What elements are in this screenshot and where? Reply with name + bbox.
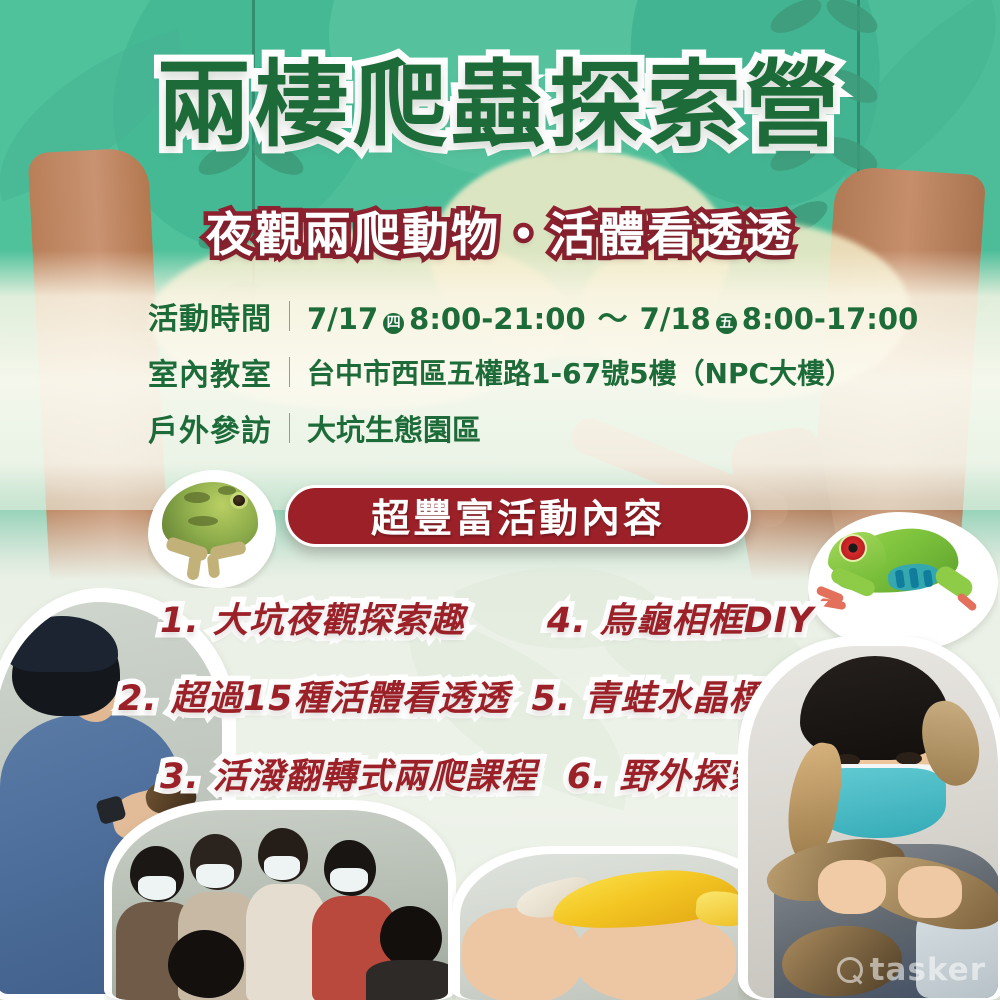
date-start: 7/17 bbox=[307, 302, 378, 336]
activity-item-3: 3. 活潑翻轉式兩爬課程 bbox=[160, 748, 537, 799]
event-info-block: 活動時間 7/17四8:00-21:00～7/18五8:00-17:00 室內教… bbox=[0, 288, 1000, 456]
poster-canvas: 兩棲爬蟲探索營 夜觀兩爬動物・活體看透透 活動時間 7/17四8:00-21:0… bbox=[0, 0, 1000, 1000]
boy-hand bbox=[818, 860, 886, 914]
activity-item-1: 1. 大坑夜觀探索趣 bbox=[160, 592, 465, 643]
date-end: 7/18 bbox=[640, 302, 711, 336]
divider bbox=[289, 301, 290, 331]
divider bbox=[289, 413, 290, 443]
range-symbol: ～ bbox=[598, 302, 628, 337]
watermark: tasker bbox=[837, 952, 986, 988]
page-subtitle: 夜觀兩爬動物・活體看透透 bbox=[0, 196, 1000, 265]
time-end: 8:00-17:00 bbox=[742, 302, 918, 336]
olive-frog-cutout bbox=[148, 470, 276, 588]
time-start: 8:00-21:00 bbox=[409, 302, 585, 336]
info-row-datetime: 活動時間 7/17四8:00-21:00～7/18五8:00-17:00 bbox=[0, 288, 1000, 344]
frog-eye bbox=[230, 492, 248, 509]
leopard-gecko-photo bbox=[452, 846, 782, 1000]
divider bbox=[289, 357, 290, 387]
section-banner-label: 超豐富活動內容 bbox=[371, 488, 665, 544]
info-label: 室內教室 bbox=[148, 350, 272, 394]
info-row-indoor-classroom: 室內教室 台中市西區五權路1-67號5樓（NPC大樓） bbox=[0, 344, 1000, 400]
info-value-datetime: 7/17四8:00-21:00～7/18五8:00-17:00 bbox=[307, 294, 918, 338]
weekday-badge-start: 四 bbox=[383, 313, 404, 334]
frog-eye bbox=[839, 534, 867, 562]
info-label: 活動時間 bbox=[148, 294, 272, 338]
info-value-outdoor-location: 大坑生態園區 bbox=[307, 407, 481, 449]
info-value-address: 台中市西區五權路1-67號5樓（NPC大樓） bbox=[307, 352, 853, 392]
children-classroom-photo bbox=[104, 800, 456, 1000]
watermark-label: tasker bbox=[870, 952, 986, 988]
boy-hand bbox=[898, 866, 962, 918]
section-banner: 超豐富活動內容 bbox=[285, 485, 751, 547]
activity-item-4: 4. 烏龜相框DIY bbox=[547, 592, 814, 643]
boy-with-python-photo bbox=[738, 636, 1000, 1000]
page-title: 兩棲爬蟲探索營 bbox=[0, 56, 1000, 156]
title-block: 兩棲爬蟲探索營 bbox=[0, 56, 1000, 156]
search-icon bbox=[837, 957, 863, 983]
weekday-badge-end: 五 bbox=[716, 313, 737, 334]
info-label: 戶外參訪 bbox=[148, 406, 272, 450]
info-row-outdoor-visit: 戶外參訪 大坑生態園區 bbox=[0, 400, 1000, 456]
activity-item-2: 2. 超過15種活體看透透 bbox=[118, 670, 510, 721]
